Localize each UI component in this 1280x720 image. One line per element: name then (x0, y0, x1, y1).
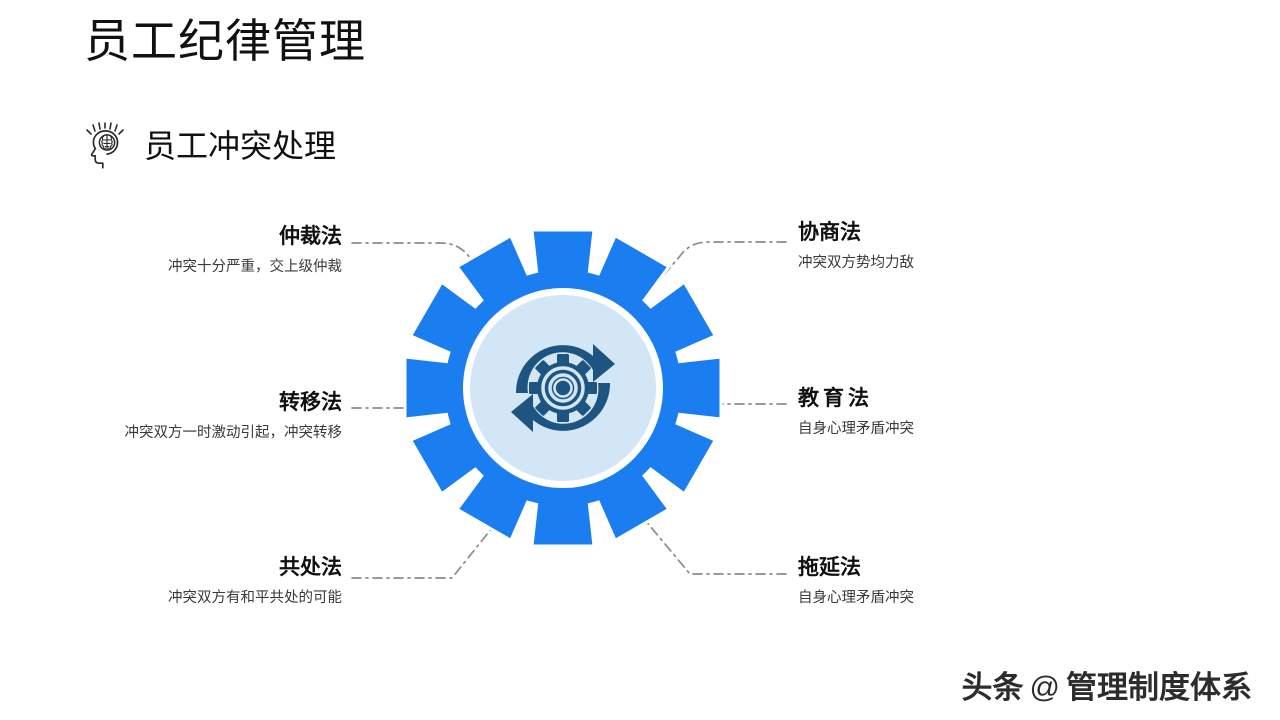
callout-education[interactable]: 教育法 自身心理矛盾冲突 (798, 384, 1028, 440)
callout-title: 转移法 (112, 388, 342, 418)
callout-title: 教育法 (798, 384, 1028, 414)
callout-desc: 冲突双方势均力敌 (798, 252, 1028, 274)
idea-head-brain-icon (84, 122, 130, 170)
watermark: 头条 @ 管理制度体系 (962, 666, 1252, 710)
subtitle-text: 员工冲突处理 (144, 126, 336, 166)
callout-negotiation[interactable]: 协商法 冲突双方势均力敌 (798, 218, 1028, 274)
callout-desc: 自身心理矛盾冲突 (798, 418, 1028, 440)
watermark-at-icon: @ (1030, 666, 1060, 710)
page-title: 员工纪律管理 (84, 10, 366, 72)
subtitle-row: 员工冲突处理 (84, 122, 336, 170)
callout-desc: 冲突双方一时激动引起，冲突转移 (112, 422, 342, 444)
callout-arbitration[interactable]: 仲裁法 冲突十分严重，交上级仲裁 (112, 222, 342, 278)
gear-diagram (398, 208, 728, 568)
callout-title: 共处法 (112, 553, 342, 583)
watermark-platform: 头条 (962, 666, 1024, 710)
callout-transfer[interactable]: 转移法 冲突双方一时激动引起，冲突转移 (112, 388, 342, 444)
callout-title: 仲裁法 (112, 222, 342, 252)
callout-title: 拖延法 (798, 553, 1028, 583)
watermark-account: 管理制度体系 (1066, 666, 1252, 710)
callout-desc: 自身心理矛盾冲突 (798, 587, 1028, 609)
callout-coexist[interactable]: 共处法 冲突双方有和平共处的可能 (112, 553, 342, 609)
slide-canvas: 员工纪律管理 (0, 0, 1280, 720)
callout-desc: 冲突十分严重，交上级仲裁 (112, 256, 342, 278)
callout-desc: 冲突双方有和平共处的可能 (112, 587, 342, 609)
callout-title: 协商法 (798, 218, 1028, 248)
callout-delay[interactable]: 拖延法 自身心理矛盾冲突 (798, 553, 1028, 609)
